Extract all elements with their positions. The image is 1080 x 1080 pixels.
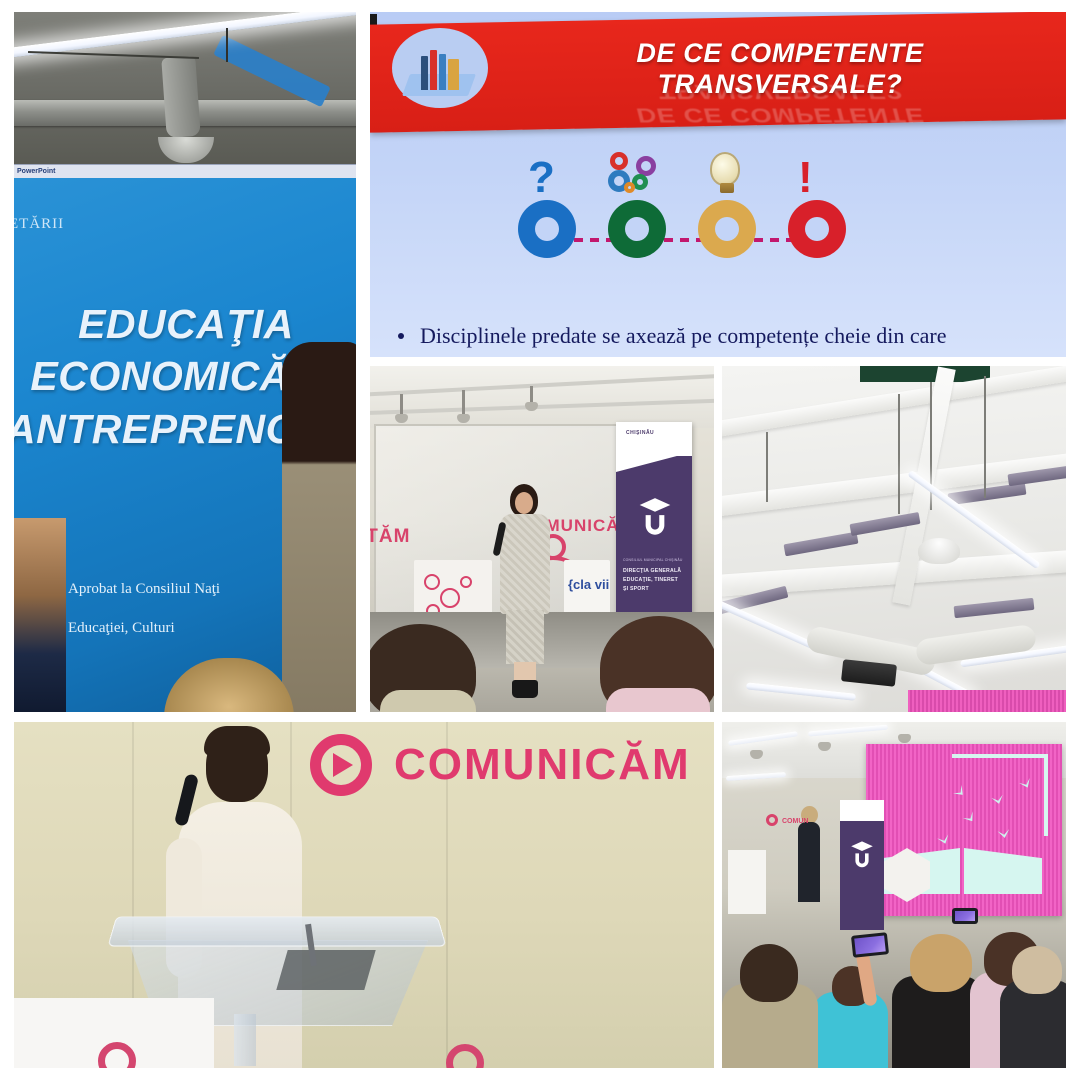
banner-small-line: CONSILIUL MUNICIPAL CHIŞINĂU (623, 558, 685, 562)
pin-exclamation: ! (788, 200, 850, 258)
pendant-lamp-cord (462, 390, 465, 416)
pin-question: ? (518, 200, 580, 258)
attendee-head (1012, 946, 1062, 994)
white-sign-board (728, 850, 766, 914)
banner-line2: EDUCAŢIE, TINERET (623, 576, 685, 585)
smartphone-camera (952, 908, 978, 924)
lectern-top (107, 916, 446, 946)
banner-line1: DIRECŢIA GENERALĂ (623, 567, 685, 576)
lectern-documents (276, 950, 375, 990)
slide-bullet-item: Disciplinele predate se axează pe compet… (398, 323, 1048, 349)
graduation-cap-monogram-logo (638, 496, 672, 536)
collage-cell-stage-speaker: ITĂM COMUNICĂM {cla vii CHIŞINĂU CONSILI… (370, 366, 714, 712)
collage-cell-ceiling-slide: PowerPoint CETĂRII EDUCAŢIA ECONOMICĂ ŞI… (14, 12, 356, 712)
play-circle-logo-small (766, 814, 778, 826)
photo-collage: PowerPoint CETĂRII EDUCAŢIA ECONOMICĂ ŞI… (0, 0, 1080, 1080)
collage-cell-audience: COMUN (722, 722, 1066, 1068)
suspension-cable (898, 394, 900, 514)
book-page-right (964, 848, 1042, 894)
banner-city-label: CHIŞINĂU (626, 430, 654, 436)
ceiling-photo-region (14, 12, 356, 172)
speaker-face (515, 492, 533, 514)
pendant-lamp (918, 538, 960, 564)
competency-pin-diagram: ? (518, 152, 888, 277)
lectern-stem (234, 1014, 256, 1066)
led-tube-light (728, 731, 798, 746)
smartphone-camera (851, 932, 889, 958)
speaker-fringe (204, 726, 270, 756)
rollup-banner (840, 800, 884, 930)
pin-lightbulb (698, 200, 760, 258)
slide-inset-photo (14, 518, 66, 712)
speaker-suit (798, 822, 820, 902)
phone-screen (955, 911, 975, 921)
wall-text-invitam: ITĂM (370, 526, 410, 548)
banner-line3: ŞI SPORT (623, 585, 685, 594)
collage-cell-podium: COMUNICĂM (14, 722, 714, 1068)
suspension-cable (984, 376, 986, 498)
suspension-cable (766, 432, 768, 502)
pendant-lamp (898, 734, 911, 743)
attendee-head (910, 934, 972, 992)
map-pin-shape (518, 200, 576, 258)
wall-word-comunicam: COMUNICĂM (394, 740, 691, 790)
map-pin-shape (608, 200, 666, 258)
slide-kicker-text: CETĂRII (14, 216, 64, 233)
map-pin-shape (698, 200, 756, 258)
attendee-head (740, 944, 798, 1002)
pendant-lamp-cord (400, 394, 403, 416)
bullet-text: Disciplinele predate se axează pe compet… (420, 323, 947, 348)
duct-elbow-icon (162, 56, 201, 138)
led-tube-light (808, 725, 888, 737)
pendant-lamp (818, 742, 831, 751)
graduation-cap-monogram-logo (850, 840, 874, 868)
pin-gears (608, 200, 670, 258)
map-pin-shape (788, 200, 846, 258)
audience-shoulders (380, 690, 476, 712)
gears-icon (606, 152, 672, 198)
lightbulb-icon (710, 152, 740, 186)
white-sign-text: {cla vii (568, 578, 609, 592)
phone-screen (854, 935, 886, 954)
pendant-lamp (750, 750, 763, 759)
ceiling-accent-panel (860, 366, 991, 382)
taskbar-label: PowerPoint (14, 165, 356, 178)
books-icon (392, 28, 488, 108)
ceiling-wire (226, 28, 228, 62)
audience-shoulders (606, 688, 710, 712)
speaker-boots (512, 680, 538, 698)
speaker-jacket (500, 514, 550, 614)
collage-cell-ceiling (722, 366, 1066, 712)
speaker-skirt (506, 610, 544, 664)
screen-frame-graphic (952, 754, 1048, 836)
blue-tape-strip (214, 35, 331, 107)
powerpoint-taskbar: PowerPoint (14, 164, 356, 178)
exclamation-mark-icon: ! (798, 156, 813, 200)
rollup-banner: CHIŞINĂU CONSILIUL MUNICIPAL CHIŞINĂU DI… (616, 422, 692, 634)
wall-word-comun: COMUN (782, 818, 808, 825)
duct-diffuser-icon (158, 137, 214, 163)
bullet-dot-icon (398, 333, 404, 339)
collage-cell-presentation: DE CE COMPETENTE TRANSVERSALE? DE CE COM… (370, 12, 1066, 357)
hall-ceiling (370, 366, 714, 428)
presentation-title: DE CE COMPETENTE TRANSVERSALE? (520, 38, 1040, 100)
projection-screen-edge (908, 690, 1066, 712)
question-mark-icon: ? (528, 156, 555, 200)
banner-body-text: DIRECŢIA GENERALĂ EDUCAŢIE, TINERET ŞI S… (623, 567, 685, 594)
ceiling-wire (28, 51, 199, 59)
stage-speaker-person (494, 484, 556, 692)
attendee-silhouette (282, 342, 356, 712)
banner-corner-shape (616, 452, 692, 472)
